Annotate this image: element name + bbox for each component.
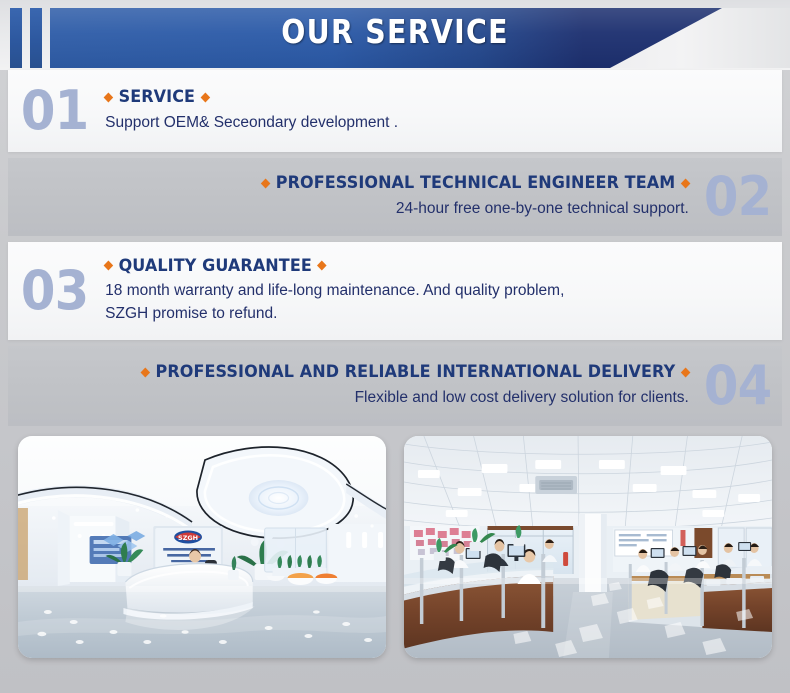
- service-heading-label-03: QUALITY GUARANTEE: [119, 256, 312, 275]
- service-number-01: 01: [21, 84, 88, 138]
- photo-gallery: SZGH: [0, 436, 790, 658]
- office-lobby-illustration: SZGH: [18, 436, 386, 658]
- service-item-01: 01 SERVICE Support OEM& Seceondary devel…: [8, 70, 782, 152]
- service-list: 01 SERVICE Support OEM& Seceondary devel…: [0, 70, 790, 426]
- diamond-bullet-icon: [261, 178, 271, 188]
- service-body-line-03-0: 18 month warranty and life-long maintena…: [105, 280, 564, 303]
- diamond-bullet-icon: [681, 178, 691, 188]
- service-heading-02: PROFESSIONAL TECHNICAL ENGINEER TEAM: [262, 173, 689, 194]
- service-body-line-03-1: SZGH promise to refund.: [105, 303, 564, 326]
- service-heading-04: PROFESSIONAL AND RELIABLE INTERNATIONAL …: [142, 362, 689, 383]
- svg-text:SZGH: SZGH: [178, 534, 198, 542]
- service-item-02: PROFESSIONAL TECHNICAL ENGINEER TEAM 24-…: [8, 158, 782, 236]
- service-heading-label-01: SERVICE: [119, 87, 195, 106]
- service-body-line-01-0: Support OEM& Seceondary development .: [105, 112, 398, 135]
- diamond-bullet-icon: [140, 367, 150, 377]
- header-accent-bar-1: [10, 8, 22, 68]
- diamond-bullet-icon: [317, 261, 327, 271]
- service-text-02: PROFESSIONAL TECHNICAL ENGINEER TEAM 24-…: [249, 173, 689, 221]
- service-text-01: SERVICE Support OEM& Seceondary developm…: [105, 87, 398, 135]
- open-plan-office-illustration: [404, 436, 772, 658]
- diamond-bullet-icon: [681, 367, 691, 377]
- header-accent-bar-2: [30, 8, 42, 68]
- service-text-03: QUALITY GUARANTEE 18 month warranty and …: [105, 256, 564, 327]
- service-body-line-04-0: Flexible and low cost delivery solution …: [125, 387, 689, 410]
- service-text-04: PROFESSIONAL AND RELIABLE INTERNATIONAL …: [125, 362, 689, 410]
- service-number-04: 04: [704, 359, 771, 413]
- service-heading-01: SERVICE: [105, 87, 389, 108]
- page-header: OUR SERVICE: [0, 0, 790, 70]
- diamond-bullet-icon: [201, 92, 211, 102]
- service-item-04: PROFESSIONAL AND RELIABLE INTERNATIONAL …: [8, 346, 782, 426]
- service-body-line-02-0: 24-hour free one-by-one technical suppor…: [249, 198, 689, 221]
- service-number-02: 02: [704, 170, 771, 224]
- service-heading-label-04: PROFESSIONAL AND RELIABLE INTERNATIONAL …: [155, 362, 675, 381]
- service-heading-03: QUALITY GUARANTEE: [105, 256, 550, 277]
- service-item-03: 03 QUALITY GUARANTEE 18 month warranty a…: [8, 242, 782, 340]
- photo-office-lobby-reception: SZGH: [18, 436, 386, 658]
- diamond-bullet-icon: [104, 92, 114, 102]
- service-number-03: 03: [21, 264, 88, 318]
- service-heading-label-02: PROFESSIONAL TECHNICAL ENGINEER TEAM: [276, 173, 675, 192]
- page-title: OUR SERVICE: [55, 12, 734, 51]
- diamond-bullet-icon: [104, 261, 114, 271]
- photo-open-plan-office: [404, 436, 772, 658]
